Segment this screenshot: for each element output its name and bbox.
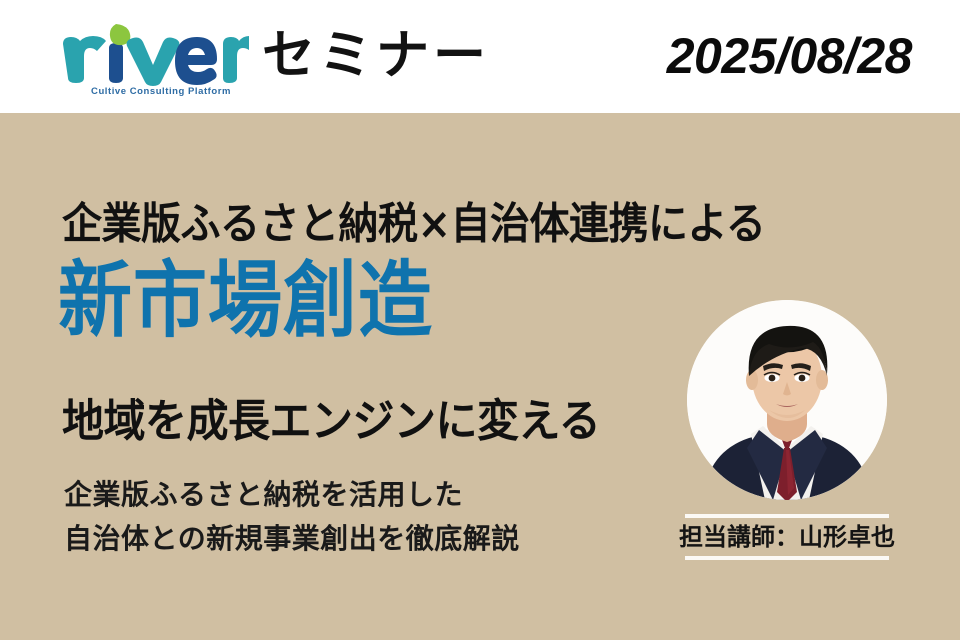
river-logo: Cultive Consulting Platform (57, 24, 249, 106)
speaker-caption: 担当講師：山形卓也 (677, 514, 897, 560)
speaker-block: 担当講師：山形卓也 (677, 300, 897, 560)
logo-letter-e (175, 37, 217, 85)
headline-feature: 新市場創造 (58, 253, 433, 349)
speaker-caption-text: 担当講師：山形卓也 (679, 521, 895, 553)
subcopy-block: 企業版ふるさと納税を活用した 自治体との新規事業創出を徹底解説 (64, 473, 520, 561)
subcopy-line-2: 自治体との新規事業創出を徹底解説 (64, 517, 520, 561)
logo-letter-r1 (63, 36, 106, 83)
seminar-banner: Cultive Consulting Platform セミナー 2025/08… (0, 0, 960, 640)
logo-letter-v (127, 38, 180, 87)
headline-secondary: 地域を成長エンジンに変える (62, 385, 600, 450)
banner-header: Cultive Consulting Platform セミナー 2025/08… (0, 0, 960, 113)
logo-letter-i (109, 43, 123, 83)
headline-primary: 企業版ふるさと納税×自治体連携による (62, 189, 765, 252)
logo-letter-r2 (223, 36, 249, 83)
seminar-date: 2025/08/28 (667, 26, 912, 86)
banner-body: 企業版ふるさと納税×自治体連携による 新市場創造 地域を成長エンジンに変える 企… (0, 113, 960, 640)
seminar-label: セミナー (262, 26, 490, 86)
subcopy-line-1: 企業版ふるさと納税を活用した (64, 473, 520, 517)
river-wordmark (57, 24, 249, 86)
brand-tagline: Cultive Consulting Platform (73, 86, 249, 97)
river-logo-svg (57, 24, 249, 86)
speaker-avatar (687, 300, 887, 500)
speaker-photo-svg (687, 300, 887, 500)
